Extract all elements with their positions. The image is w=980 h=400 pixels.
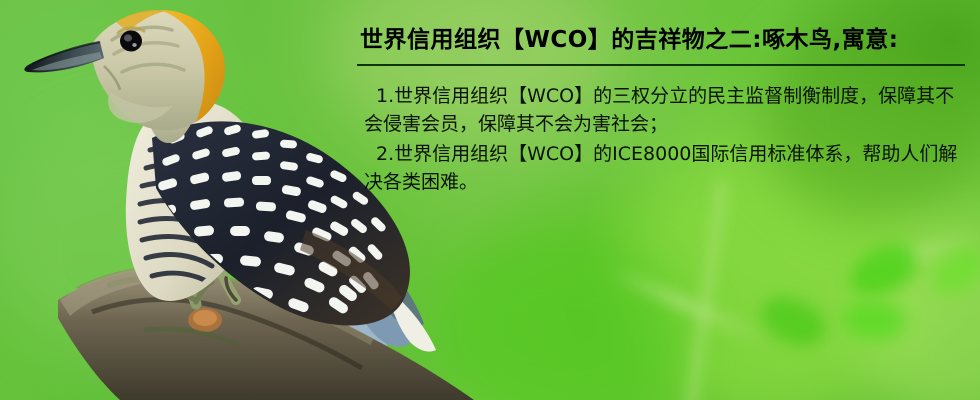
wco-mascot-banner: 世界信用组织【WCO】的吉祥物之二:啄木鸟,寓意: 1.世界信用组织【WCO】的… bbox=[0, 0, 980, 400]
bird-eye bbox=[120, 31, 142, 52]
mascot-meaning-list: 1.世界信用组织【WCO】的三权分立的民主监督制衡制度，保障其不会侵害会员，保障… bbox=[352, 82, 972, 196]
list-item: 1.世界信用组织【WCO】的三权分立的民主监督制衡制度，保障其不会侵害会员，保障… bbox=[352, 82, 972, 138]
bird-head bbox=[24, 10, 225, 130]
page-title: 世界信用组织【WCO】的吉祥物之二:啄木鸟,寓意: bbox=[352, 24, 972, 64]
list-item: 2.世界信用组织【WCO】的ICE8000国际信用标准体系，帮助人们解决各类困难… bbox=[352, 140, 972, 196]
title-divider bbox=[357, 64, 965, 66]
banner-text-block: 世界信用组织【WCO】的吉祥物之二:啄木鸟,寓意: 1.世界信用组织【WCO】的… bbox=[352, 24, 972, 198]
